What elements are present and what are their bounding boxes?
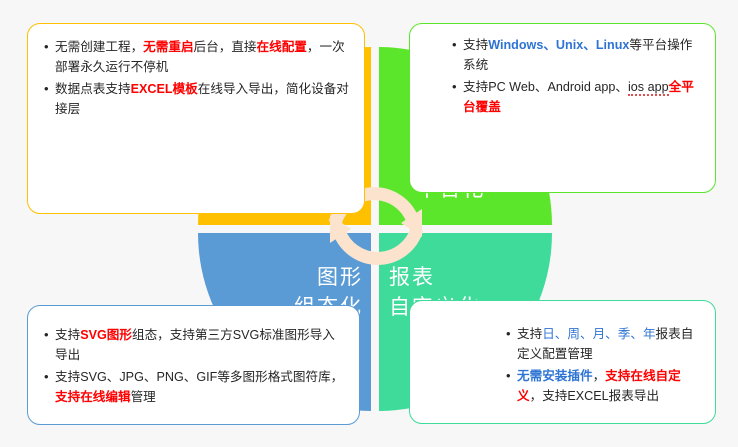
text-run: ，支持EXCEL报表导出 [530,389,659,403]
text-run: 支持在线编辑 [55,390,131,404]
text-run: 支持PC Web、Android app、 [463,80,628,94]
callout-cross-platform: 支持Windows、Unix、Linux等平台操作系统 支持PC Web、And… [409,23,716,193]
callout-graphics: 支持SVG图形组态，支持第三方SVG标准图形导入导出 支持SVG、JPG、PNG… [27,305,360,425]
list-item: 支持Windows、Unix、Linux等平台操作系统 [452,36,703,75]
text-run: 无需创建工程， [55,40,143,54]
text-run: 无需安装插件 [517,369,593,383]
callout-graphics-list: 支持SVG图形组态，支持第三方SVG标准图形导入导出 支持SVG、JPG、PNG… [44,326,345,407]
text-run: ios app [628,80,669,96]
quadrant-graphics-label-line1: 图形 [223,263,363,293]
callout-online: 无需创建工程，无需重启后台，直接在线配置，一次部署永久运行不停机 数据点表支持E… [27,23,365,214]
callout-report-list: 支持日、周、月、季、年报表自定义配置管理 无需安装插件，支持在线自定义，支持EX… [506,325,703,406]
text-run: 支持 [55,328,80,342]
list-item: 支持日、周、月、季、年报表自定义配置管理 [506,325,703,364]
text-run: EXCEL模板 [131,82,198,96]
text-run: 在线配置 [257,40,307,54]
quadrant-report-label-line1: 报表 [389,263,539,293]
text-run: ， [593,369,606,383]
text-run: 支持SVG、JPG、PNG、GIF等多图形格式图符库， [55,370,343,384]
text-run: 后台，直接 [194,40,257,54]
list-item: 支持SVG、JPG、PNG、GIF等多图形格式图符库，支持在线编辑管理 [44,368,345,407]
callout-cross-platform-list: 支持Windows、Unix、Linux等平台操作系统 支持PC Web、And… [452,36,703,117]
callout-online-list: 无需创建工程，无需重启后台，直接在线配置，一次部署永久运行不停机 数据点表支持E… [44,38,350,119]
text-run: 支持 [463,38,488,52]
list-item: 无需创建工程，无需重启后台，直接在线配置，一次部署永久运行不停机 [44,38,350,77]
list-item: 支持SVG图形组态，支持第三方SVG标准图形导入导出 [44,326,345,365]
list-item: 无需安装插件，支持在线自定义，支持EXCEL报表导出 [506,367,703,406]
callout-report: 支持日、周、月、季、年报表自定义配置管理 无需安装插件，支持在线自定义，支持EX… [409,300,716,424]
list-item: 数据点表支持EXCEL模板在线导入导出，简化设备对接层 [44,80,350,119]
text-run: Windows、Unix、Linux [488,38,629,52]
list-item: 支持PC Web、Android app、ios app全平台覆盖 [452,78,703,117]
text-run: 无需重启 [143,40,193,54]
text-run: 数据点表支持 [55,82,131,96]
text-run: SVG图形 [80,328,132,342]
text-run: 管理 [131,390,156,404]
diagram-canvas: 在线化 跨 平台化 图形 组态化 报表 自定义化 [0,0,738,447]
text-run: 日、周、月、季、年 [542,327,655,341]
text-run: 支持 [517,327,542,341]
